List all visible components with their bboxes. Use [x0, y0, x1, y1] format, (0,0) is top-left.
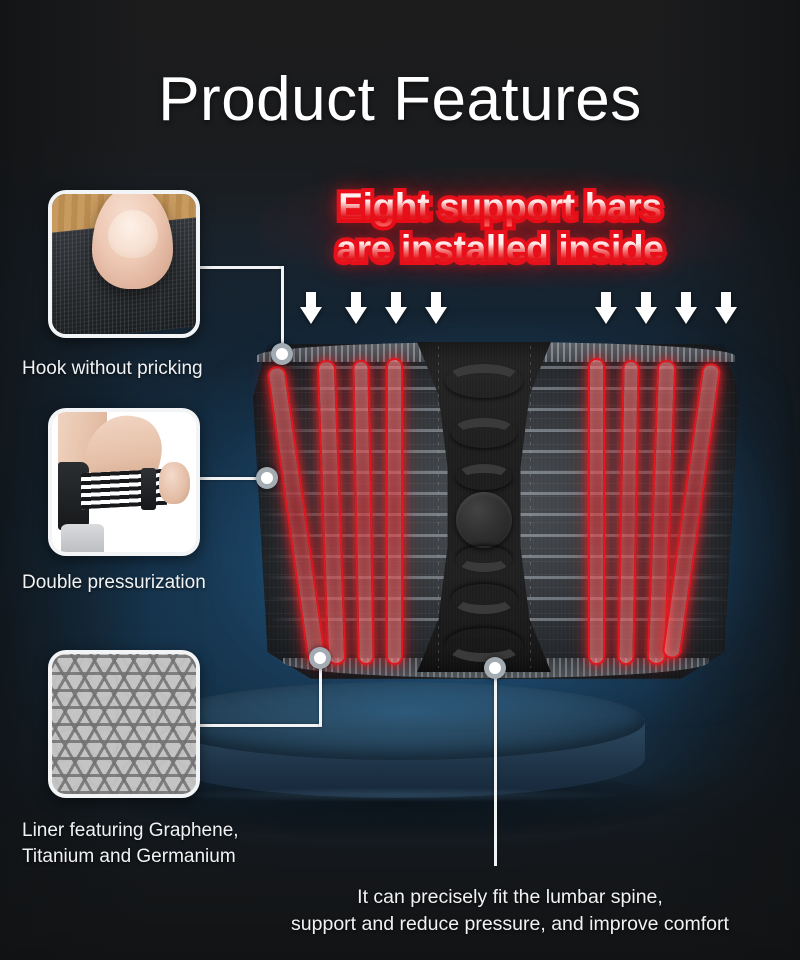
callout-dot-pressurization[interactable] — [256, 467, 278, 489]
spine-stitch-left — [438, 346, 439, 668]
page-title: Product Features — [0, 64, 800, 135]
bottom-caption: It can precisely fit the lumbar spine, s… — [250, 884, 770, 938]
connector-liner-vertical — [319, 664, 322, 726]
pressure-arrow-5 — [595, 292, 617, 324]
strap-handle — [141, 468, 155, 510]
pressure-arrow-3 — [385, 292, 407, 324]
spine-stitch-right — [530, 346, 531, 668]
connector-lumbar-fit-vertical — [494, 672, 497, 866]
feature-label-liner-line2: Titanium and Germanium — [22, 844, 239, 870]
spine-arc-down-3 — [445, 628, 523, 662]
feature-label-hook: Hook without pricking — [22, 356, 203, 382]
spine-arc-up-1 — [445, 364, 523, 398]
pressure-arrow-7 — [675, 292, 697, 324]
pressure-arrow-2 — [345, 292, 367, 324]
pressure-arrow-1 — [300, 292, 322, 324]
connector-hook-vertical — [281, 266, 284, 354]
feature-label-double-pressurization: Double pressurization — [22, 570, 206, 596]
spine-arc-down-2 — [451, 584, 517, 614]
legs — [61, 524, 104, 555]
headline-line-2: are installed inside — [300, 228, 700, 270]
feature-label-liner-line1: Liner featuring Graphene, — [22, 818, 239, 844]
pedestal-highlight — [173, 788, 627, 802]
feature-thumbnail-hook[interactable] — [48, 190, 200, 338]
product-feature-infographic: Product Features Eight support bars are … — [0, 0, 800, 960]
bottom-caption-line1: It can precisely fit the lumbar spine, — [250, 884, 770, 911]
connector-hook-horizontal — [200, 266, 284, 269]
spine-center-dot — [456, 492, 512, 548]
pressure-arrow-6 — [635, 292, 657, 324]
spine-arc-up-3 — [456, 464, 512, 490]
spine-support-panel — [408, 342, 560, 672]
headline-line-1: Eight support bars — [300, 186, 700, 228]
spine-arc-down-1 — [456, 546, 512, 572]
pressure-arrow-4 — [425, 292, 447, 324]
fingernail — [108, 210, 158, 258]
pressure-arrow-8 — [715, 292, 737, 324]
headline: Eight support bars are installed inside — [300, 186, 700, 270]
fist — [159, 462, 191, 504]
honeycomb-overlay — [52, 654, 196, 794]
feature-thumbnail-graphene-liner[interactable] — [48, 650, 200, 798]
callout-dot-lumbar-fit[interactable] — [484, 657, 506, 679]
connector-liner-horizontal — [200, 724, 322, 727]
spine-arc-up-2 — [451, 418, 517, 448]
finger-image — [92, 190, 173, 289]
feature-label-liner: Liner featuring Graphene, Titanium and G… — [22, 818, 239, 870]
bottom-caption-line2: support and reduce pressure, and improve… — [250, 911, 770, 938]
callout-dot-hook[interactable] — [271, 343, 293, 365]
feature-thumbnail-double-pressurization[interactable] — [48, 408, 200, 556]
callout-dot-liner[interactable] — [309, 647, 331, 669]
